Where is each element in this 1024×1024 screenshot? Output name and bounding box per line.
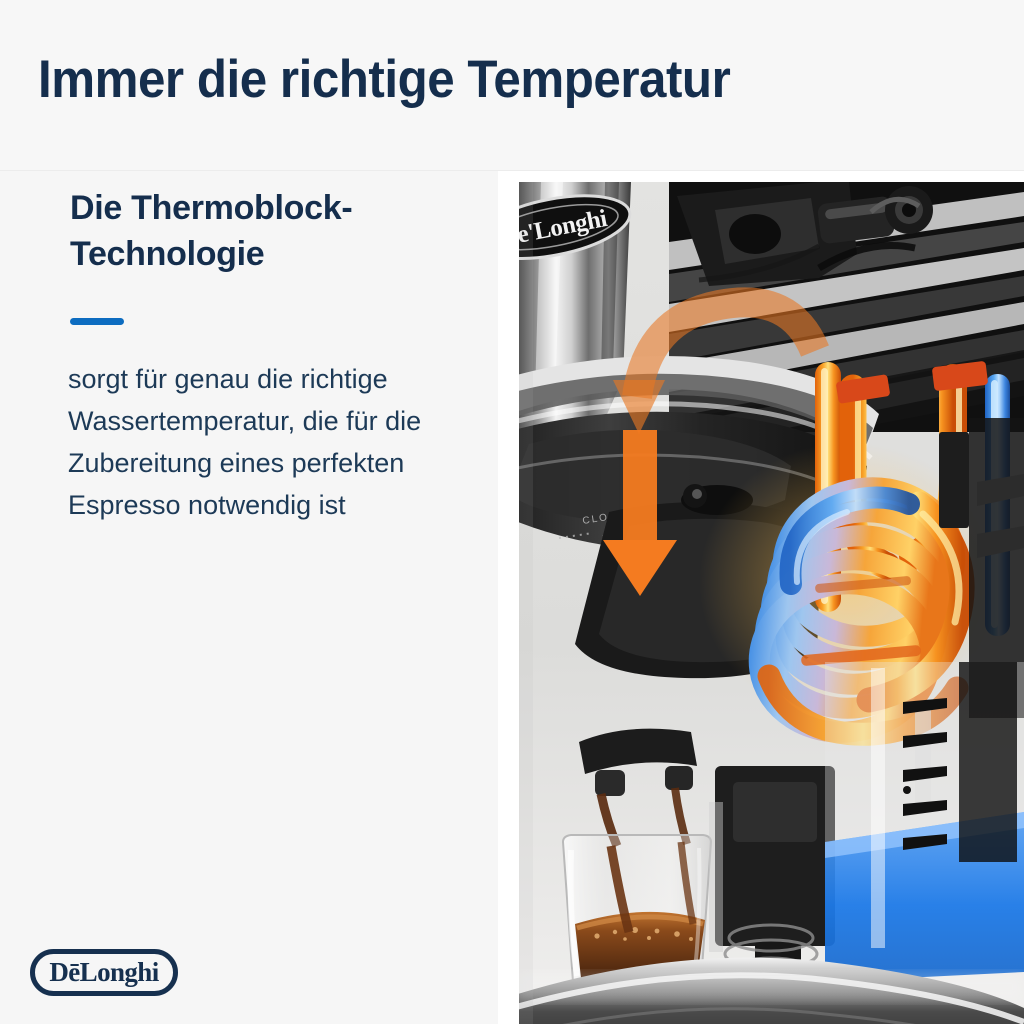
delonghi-logo-text: DēLonghi bbox=[35, 954, 173, 991]
page-title: Immer die richtige Temperatur bbox=[38, 48, 730, 112]
product-photo: De'Longhi CLOSE bbox=[519, 182, 1024, 1024]
accent-rule bbox=[70, 318, 124, 325]
delonghi-logo: DēLonghi bbox=[30, 949, 178, 996]
left-content-panel bbox=[0, 171, 498, 1024]
panel-photo-gutter bbox=[498, 171, 519, 1024]
feature-body-text: sorgt für genau die richtige Wassertempe… bbox=[68, 358, 440, 526]
product-photo-illustration: De'Longhi CLOSE bbox=[519, 182, 1024, 1024]
promo-page: Immer die richtige Temperatur Die Thermo… bbox=[0, 0, 1024, 1024]
dispenser-unit bbox=[709, 766, 835, 982]
feature-subheading: Die Thermoblock-Technologie bbox=[70, 185, 470, 277]
water-tank bbox=[825, 662, 1024, 982]
